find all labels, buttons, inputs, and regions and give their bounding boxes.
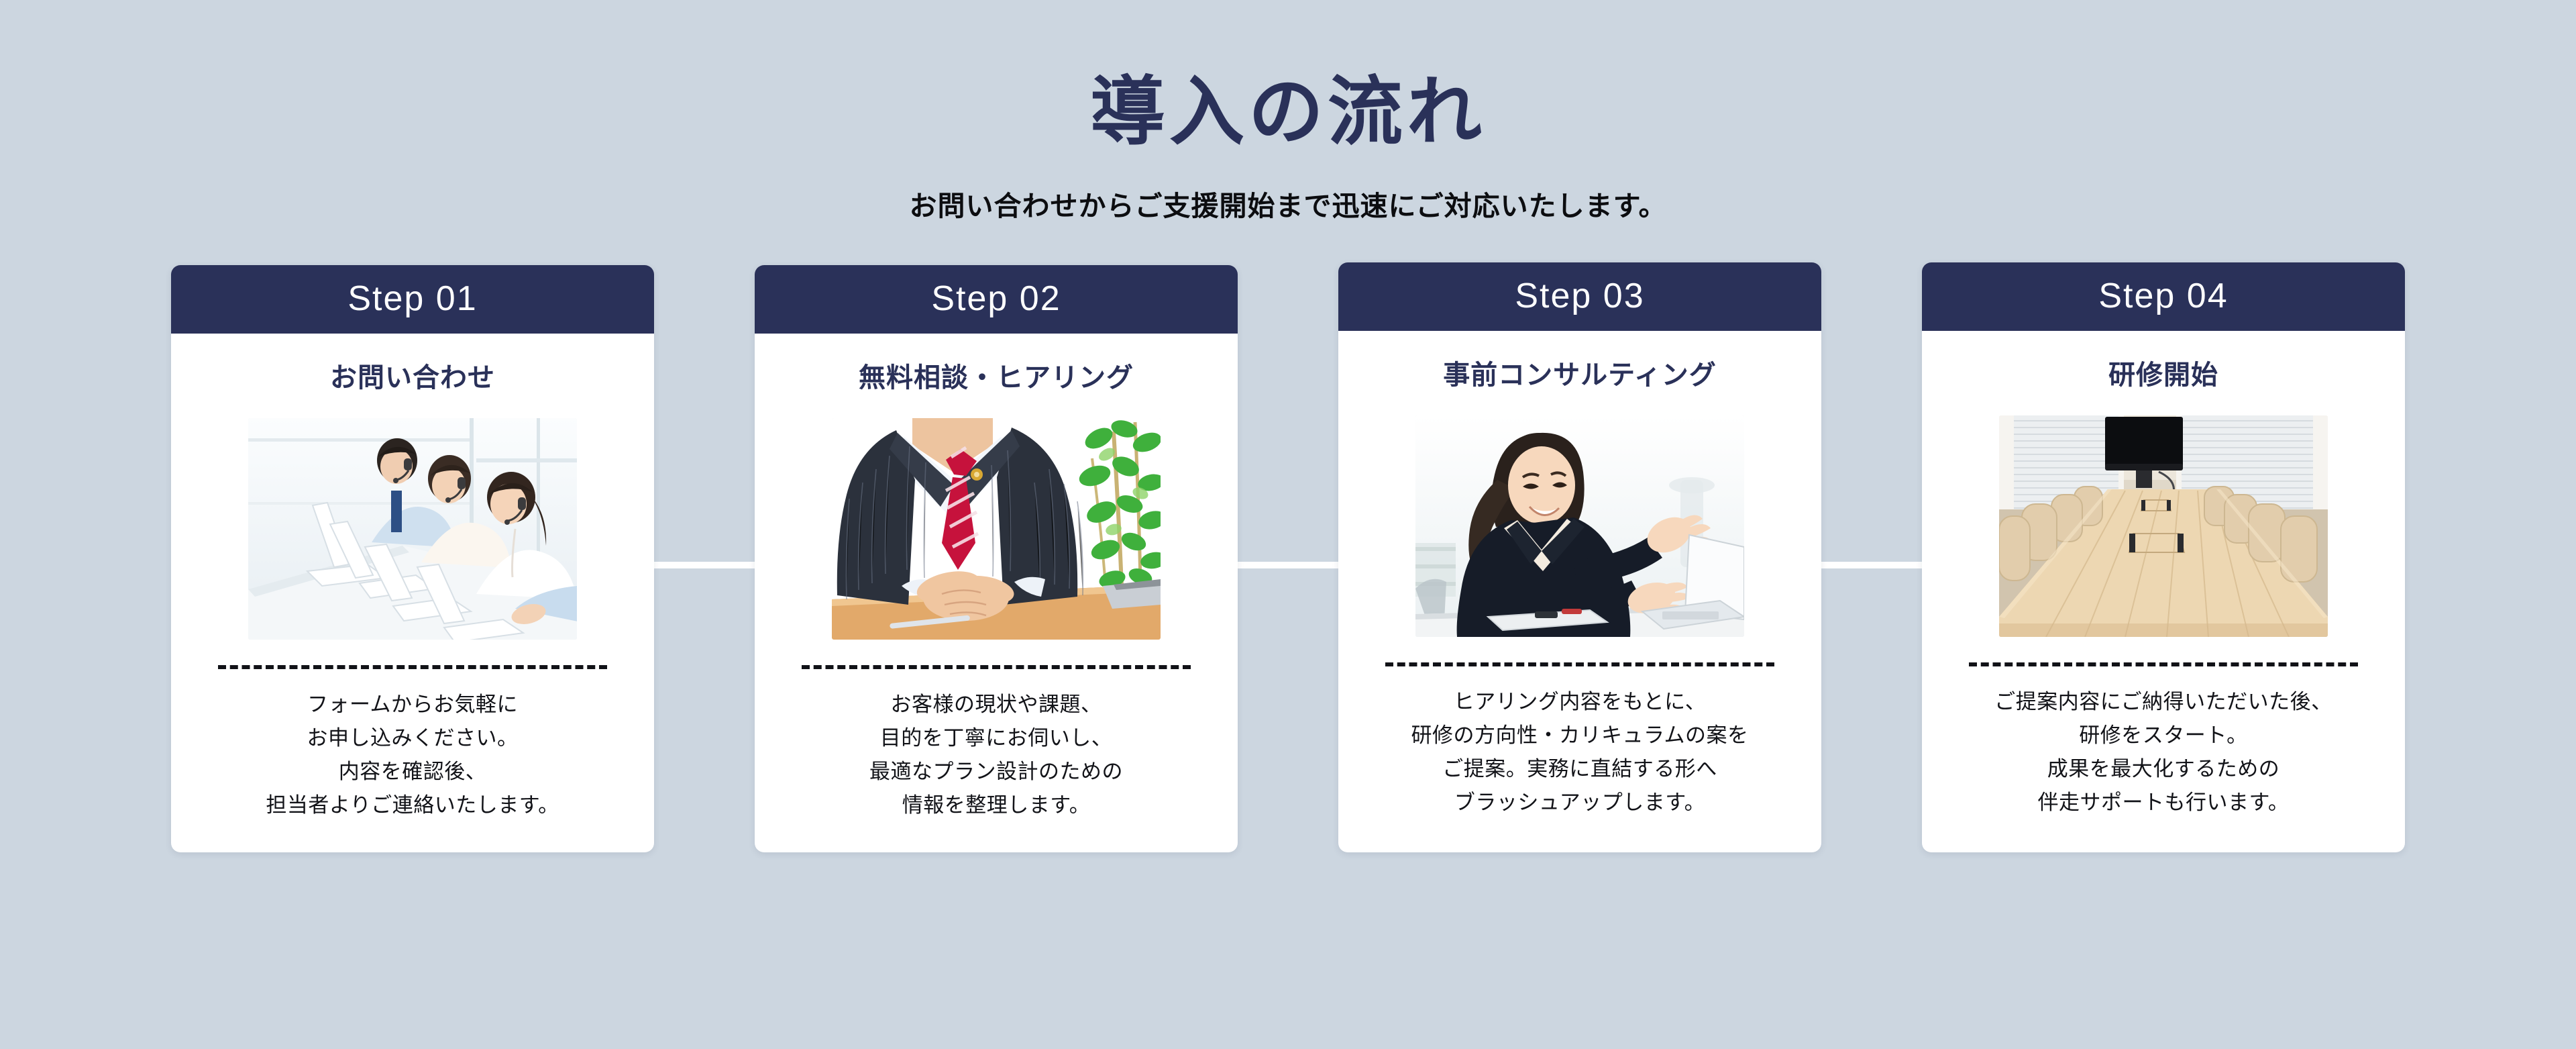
step-body-line: ブラッシュアップします。 (1411, 786, 1748, 819)
step-badge-2: Step 02 (755, 265, 1238, 334)
step-title-1: お問い合わせ (330, 362, 495, 394)
step-body-line: 成果を最大化するための (1994, 752, 2332, 786)
step-badge-3: Step 03 (1338, 262, 1821, 331)
step-card-1[interactable]: Step 01 お問い合わせ (171, 265, 654, 852)
step-body-line: 情報を整理します。 (869, 789, 1123, 822)
businessman-consultation-photo (832, 418, 1161, 640)
step-card-2[interactable]: Step 02 無料相談・ヒアリング (755, 265, 1238, 852)
step-body-line: ヒアリング内容をもとに、 (1411, 685, 1748, 719)
card-divider-4 (1969, 662, 2358, 666)
conference-room-photo (1999, 415, 2328, 637)
step-body-line: 研修をスタート。 (1994, 719, 2332, 752)
step-body-4: ご提案内容にご納得いただいた後、 研修をスタート。 成果を最大化するための 伴走… (1994, 685, 2332, 820)
step-body-line: 伴走サポートも行います。 (1994, 786, 2332, 819)
step-body-line: お客様の現状や課題、 (869, 688, 1123, 721)
businesswoman-presenting-photo (1415, 415, 1744, 637)
card-divider-1 (218, 665, 607, 669)
step-body-line: お申し込みください。 (266, 721, 559, 755)
step-body-line: 最適なプラン設計のための (869, 755, 1123, 789)
step-body-line: 内容を確認後、 (266, 755, 559, 789)
step-body-1: フォームからお気軽に お申し込みください。 内容を確認後、 担当者よりご連絡いた… (266, 688, 559, 823)
step-body-line: 担当者よりご連絡いたします。 (266, 789, 559, 822)
call-center-staff-photo (248, 418, 577, 640)
card-divider-2 (802, 665, 1191, 669)
step-body-line: ご提案内容にご納得いただいた後、 (1994, 685, 2332, 719)
step-title-2: 無料相談・ヒアリング (859, 362, 1134, 394)
section-header: 導入の流れ お問い合わせからご支援開始まで迅速にご対応いたします。 (0, 0, 2576, 223)
step-title-4: 研修開始 (2108, 359, 2218, 391)
step-body-line: 研修の方向性・カリキュラムの案を (1411, 719, 1748, 752)
step-body-3: ヒアリング内容をもとに、 研修の方向性・カリキュラムの案を ご提案。実務に直結す… (1411, 685, 1748, 820)
page-title: 導入の流れ (0, 72, 2576, 152)
step-card-4[interactable]: Step 04 研修開始 (1922, 262, 2405, 852)
flow-section: 導入の流れ お問い合わせからご支援開始まで迅速にご対応いたします。 Step 0… (0, 0, 2576, 1049)
step-body-line: 目的を丁寧にお伺いし、 (869, 721, 1123, 755)
steps-section: Step 01 お問い合わせ (0, 265, 2576, 869)
step-cards: Step 01 お問い合わせ (171, 265, 2405, 852)
page-subtitle: お問い合わせからご支援開始まで迅速にご対応いたします。 (0, 183, 2576, 223)
step-body-line: フォームからお気軽に (266, 688, 559, 721)
step-title-3: 事前コンサルティング (1443, 359, 1717, 391)
step-card-3[interactable]: Step 03 事前コンサルティング (1338, 262, 1821, 852)
step-body-2: お客様の現状や課題、 目的を丁寧にお伺いし、 最適なプラン設計のための 情報を整… (869, 688, 1123, 823)
step-body-line: ご提案。実務に直結する形へ (1411, 752, 1748, 786)
card-divider-3 (1385, 662, 1774, 666)
step-badge-4: Step 04 (1922, 262, 2405, 331)
step-badge-1: Step 01 (171, 265, 654, 334)
